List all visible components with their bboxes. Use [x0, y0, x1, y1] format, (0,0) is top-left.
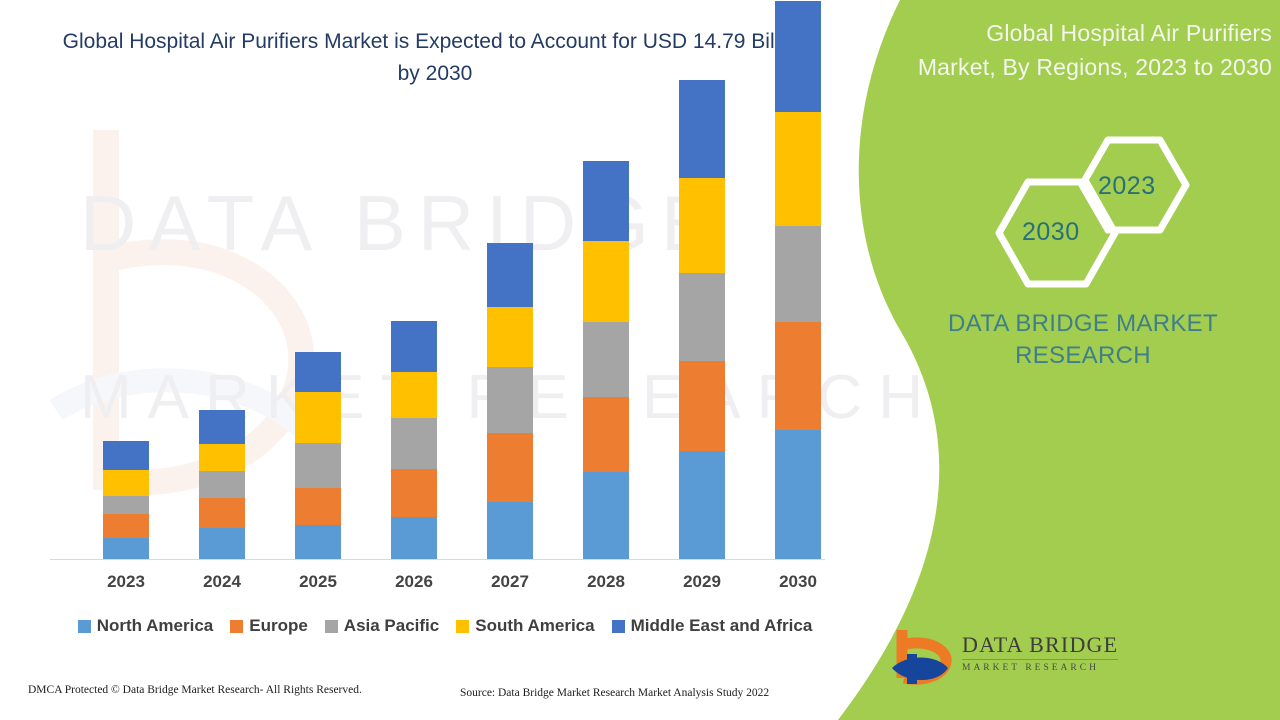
bar-segment-south-america[interactable]	[103, 470, 149, 496]
hexagon-badges: 2023 2030	[990, 130, 1220, 300]
legend-swatch-icon	[325, 620, 338, 633]
bar-segment-europe[interactable]	[487, 433, 533, 502]
bar-segment-middle-east-and-africa[interactable]	[679, 80, 725, 178]
legend-swatch-icon	[230, 620, 243, 633]
bar-segment-europe[interactable]	[103, 514, 149, 538]
bar-segment-asia-pacific[interactable]	[295, 443, 341, 488]
legend-swatch-icon	[612, 620, 625, 633]
bar-segment-middle-east-and-africa[interactable]	[103, 441, 149, 470]
x-axis-label-2030: 2030	[763, 572, 833, 592]
bar-segment-north-america[interactable]	[775, 430, 821, 559]
bar-segment-north-america[interactable]	[295, 525, 341, 559]
x-axis-labels: 20232024202520262027202820292030	[50, 572, 825, 602]
chart-legend: North AmericaEuropeAsia PacificSouth Ame…	[50, 616, 840, 636]
bar-2023[interactable]	[103, 441, 149, 559]
dbmr-logo-title: DATA BRIDGE	[962, 632, 1118, 660]
bar-segment-middle-east-and-africa[interactable]	[391, 321, 437, 372]
bar-segment-north-america[interactable]	[103, 538, 149, 559]
legend-label: Europe	[249, 616, 308, 636]
legend-item-asia-pacific[interactable]: Asia Pacific	[325, 616, 439, 636]
dbmr-logo: DATA BRIDGE MARKET RESEARCH	[890, 628, 1120, 690]
bar-segment-asia-pacific[interactable]	[391, 418, 437, 469]
bar-segment-north-america[interactable]	[679, 451, 725, 559]
bar-segment-south-america[interactable]	[583, 241, 629, 322]
bar-chart-plot	[50, 110, 825, 560]
bar-2028[interactable]	[583, 161, 629, 559]
bar-segment-europe[interactable]	[679, 361, 725, 451]
footer-source: Source: Data Bridge Market Research Mark…	[460, 687, 769, 699]
x-axis-line	[50, 559, 825, 560]
bar-segment-south-america[interactable]	[775, 112, 821, 226]
bar-segment-europe[interactable]	[391, 469, 437, 517]
legend-label: North America	[97, 616, 214, 636]
bar-segment-north-america[interactable]	[391, 517, 437, 559]
side-panel: Global Hospital Air Purifiers Market, By…	[900, 0, 1280, 720]
legend-label: Middle East and Africa	[631, 616, 813, 636]
hexagon-label-2023: 2023	[1098, 172, 1156, 201]
legend-swatch-icon	[456, 620, 469, 633]
bar-2029[interactable]	[679, 80, 725, 559]
x-axis-label-2023: 2023	[91, 572, 161, 592]
bar-2024[interactable]	[199, 410, 245, 559]
x-axis-label-2024: 2024	[187, 572, 257, 592]
legend-item-middle-east-and-africa[interactable]: Middle East and Africa	[612, 616, 813, 636]
legend-label: Asia Pacific	[344, 616, 439, 636]
bar-segment-europe[interactable]	[583, 397, 629, 472]
x-axis-label-2028: 2028	[571, 572, 641, 592]
bar-segment-europe[interactable]	[295, 488, 341, 525]
dbmr-logo-mark-icon	[890, 628, 962, 686]
bar-segment-asia-pacific[interactable]	[199, 471, 245, 498]
bar-segment-south-america[interactable]	[199, 444, 245, 471]
bar-segment-south-america[interactable]	[391, 372, 437, 418]
bar-2025[interactable]	[295, 352, 341, 559]
legend-item-north-america[interactable]: North America	[78, 616, 214, 636]
x-axis-label-2025: 2025	[283, 572, 353, 592]
bar-segment-north-america[interactable]	[583, 472, 629, 559]
bar-segment-middle-east-and-africa[interactable]	[199, 410, 245, 444]
bar-segment-asia-pacific[interactable]	[679, 273, 725, 361]
bar-2026[interactable]	[391, 321, 437, 559]
bar-2030[interactable]	[775, 1, 821, 559]
side-panel-brand: DATA BRIDGE MARKET RESEARCH	[900, 308, 1266, 372]
dbmr-logo-subtitle: MARKET RESEARCH	[962, 663, 1122, 673]
side-panel-title: Global Hospital Air Purifiers Market, By…	[910, 16, 1272, 84]
bar-segment-asia-pacific[interactable]	[487, 367, 533, 433]
infographic-canvas: Global Hospital Air Purifiers Market is …	[0, 0, 1280, 720]
bar-segment-north-america[interactable]	[487, 502, 533, 559]
legend-swatch-icon	[78, 620, 91, 633]
x-axis-label-2029: 2029	[667, 572, 737, 592]
x-axis-label-2026: 2026	[379, 572, 449, 592]
bar-segment-south-america[interactable]	[487, 307, 533, 367]
bar-segment-asia-pacific[interactable]	[103, 496, 149, 514]
bar-segment-south-america[interactable]	[679, 178, 725, 273]
bar-segment-north-america[interactable]	[199, 528, 245, 559]
x-axis-label-2027: 2027	[475, 572, 545, 592]
bar-segment-middle-east-and-africa[interactable]	[775, 1, 821, 112]
bar-segment-middle-east-and-africa[interactable]	[295, 352, 341, 392]
dbmr-logo-text: DATA BRIDGE MARKET RESEARCH	[962, 632, 1122, 673]
bar-segment-south-america[interactable]	[295, 392, 341, 443]
bar-segment-europe[interactable]	[199, 498, 245, 528]
bar-segment-middle-east-and-africa[interactable]	[487, 243, 533, 307]
hexagon-label-2030: 2030	[1022, 218, 1080, 247]
legend-label: South America	[475, 616, 594, 636]
legend-item-europe[interactable]: Europe	[230, 616, 308, 636]
footer-copyright: DMCA Protected © Data Bridge Market Rese…	[28, 684, 362, 696]
bar-segment-asia-pacific[interactable]	[583, 322, 629, 397]
bar-segment-middle-east-and-africa[interactable]	[583, 161, 629, 241]
bar-segment-asia-pacific[interactable]	[775, 226, 821, 322]
bar-segment-europe[interactable]	[775, 322, 821, 430]
bar-2027[interactable]	[487, 243, 533, 559]
legend-item-south-america[interactable]: South America	[456, 616, 594, 636]
